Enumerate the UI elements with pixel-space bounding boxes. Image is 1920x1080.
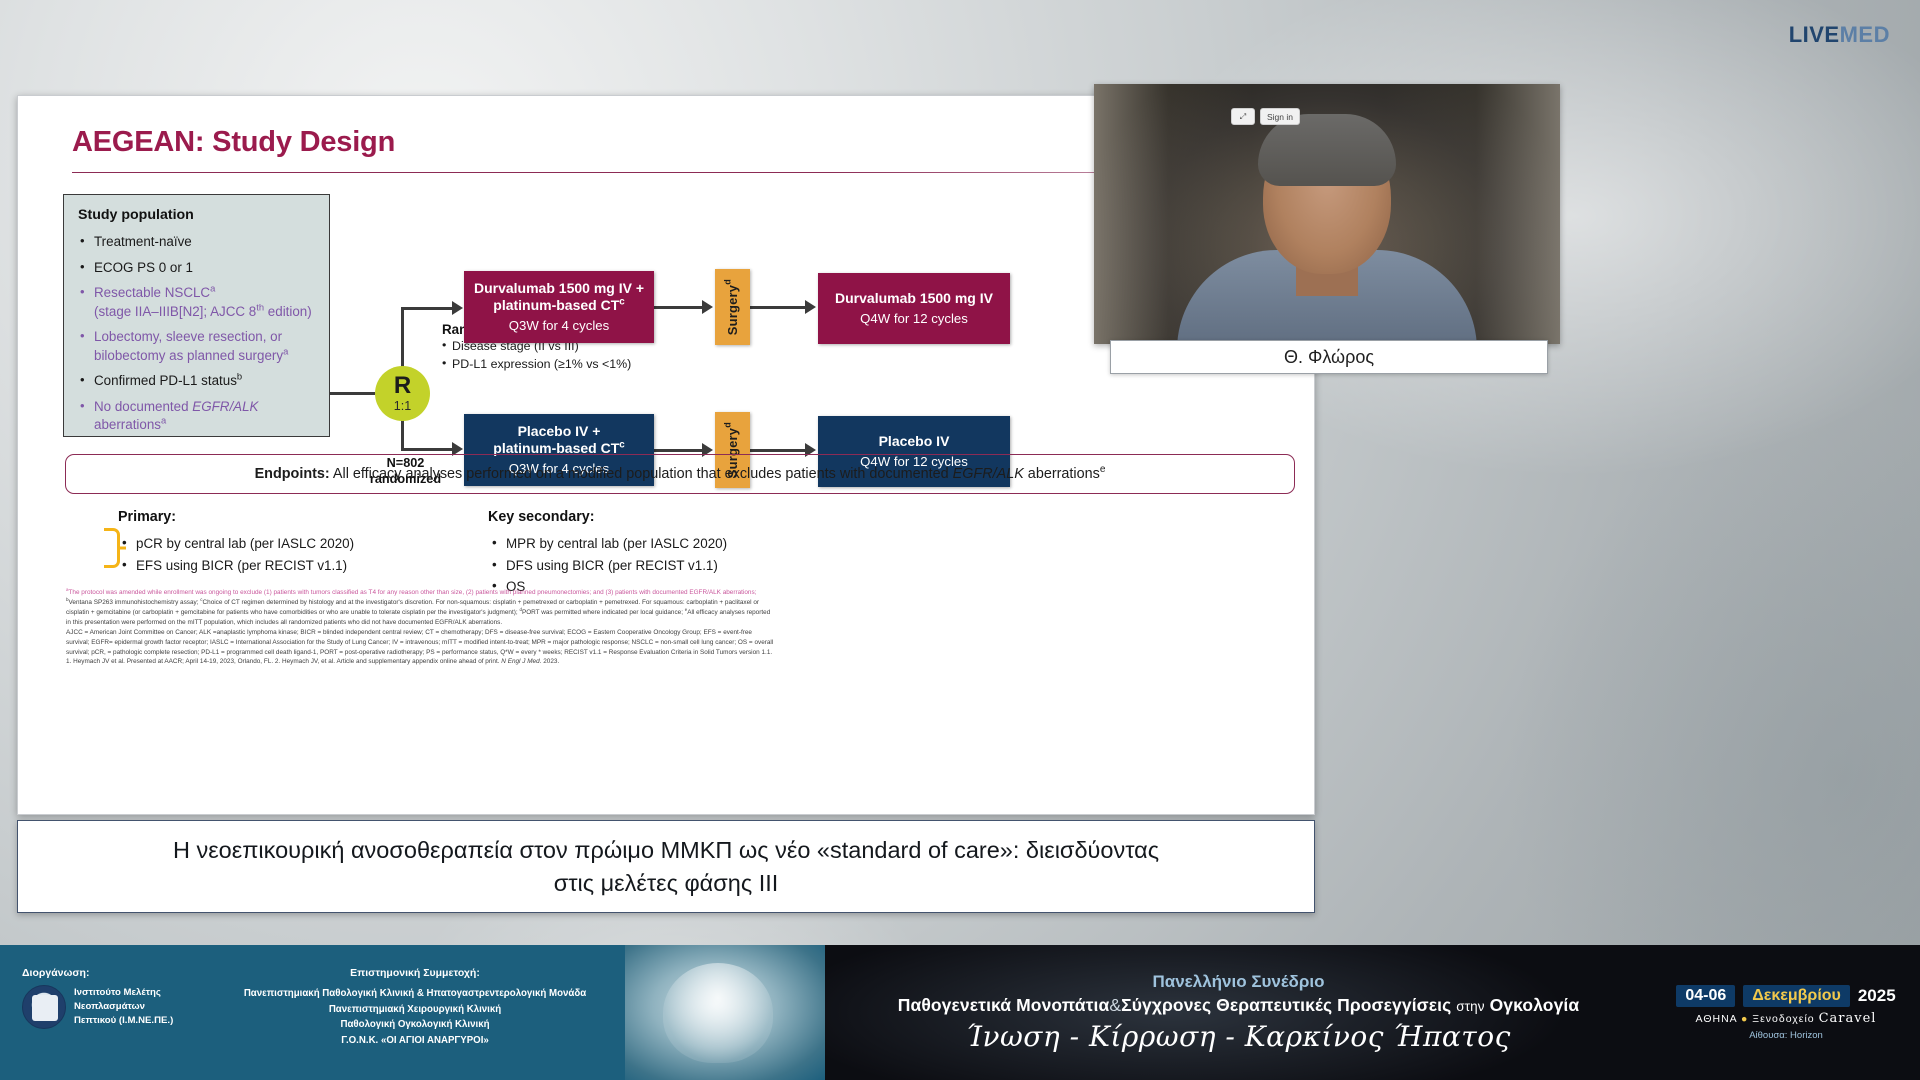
arm-title: Placebo IV (879, 433, 950, 451)
footnote-line: 1. Heymach JV et al. Presented at AACR; … (66, 657, 1256, 667)
congress-line-3: Ίνωση - Κίρρωση - Καρκίνος Ήπατος (966, 1020, 1511, 1053)
scientific-line: Πανεπιστημιακή Χειρουργική Κλινική (230, 1002, 600, 1018)
arm-title: Durvalumab 1500 mg IV +platinum-based CT… (474, 280, 644, 315)
connector-surg-to-adj-top (750, 306, 807, 309)
slide-title: AEGEAN: Study Design (72, 126, 395, 159)
congress-line-2c: Ογκολογία (1490, 995, 1580, 1015)
list-item: PD-L1 expression (≥1% vs <1%) (442, 356, 672, 374)
video-frame (1094, 84, 1560, 344)
primary-list: pCR by central lab (per IASLC 2020) EFS … (118, 533, 548, 576)
study-population-box: Study population Treatment-naïve ECOG PS… (63, 194, 330, 437)
scientific-line: Παθολογική Ογκολογική Κλινική (230, 1017, 600, 1033)
expand-icon[interactable]: ⤢ (1231, 108, 1255, 125)
list-item: Confirmed PD-L1 statusb (78, 372, 315, 391)
congress-city: ΑΘΗΝΑ (1696, 1013, 1738, 1025)
connector-pop-to-r (330, 392, 375, 395)
arm-title: Durvalumab 1500 mg IV (835, 290, 993, 308)
list-item: MPR by central lab (per IASLC 2020) (488, 533, 918, 555)
congress-line-2a: Παθογενετικά Μονοπάτια (898, 995, 1110, 1015)
endpoints-label: Endpoints: (255, 466, 330, 482)
scientific-participation-block: Επιστημονική Συμμετοχή: Πανεπιστημιακή Π… (230, 967, 600, 1048)
congress-banner: Διοργάνωση: Ινστιτούτο Μελέτης Νεοπλασμά… (0, 945, 1920, 1080)
livemed-logo-light: MED (1840, 22, 1890, 47)
list-item: DFS using BICR (per RECIST v1.1) (488, 555, 918, 577)
connector-r-up (401, 307, 404, 369)
footnote-line: bVentana SP263 immunohistochemistry assa… (66, 598, 1256, 608)
arrow-surgery-top (702, 300, 713, 314)
congress-date-block: 04-06 Δεκεμβρίου 2025 ΑΘΗΝΑ ● Ξενοδοχείο… (1652, 945, 1920, 1080)
list-item: Treatment-naïve (78, 233, 315, 252)
slide-controls: ⤢ Sign in (1231, 108, 1300, 125)
congress-line-2: Παθογενετικά Μονοπάτια&Σύγχρονες Θεραπευ… (898, 995, 1580, 1016)
livemed-logo-main: LIVE (1789, 22, 1840, 47)
caption-line-2: στις μελέτες φάσης ΙΙΙ (554, 867, 779, 899)
study-population-list: Treatment-naïve ECOG PS 0 or 1 Resectabl… (78, 233, 315, 435)
organizer-label: Διοργάνωση: (22, 967, 222, 979)
arrow-adj-top (805, 300, 816, 314)
livemed-logo: LIVEMED (1789, 22, 1890, 48)
secondary-heading: Key secondary: (488, 509, 918, 525)
connector-surg-to-adj-bot (750, 449, 807, 452)
endpoints-text: All efficacy analyses performed on a mod… (330, 466, 1106, 482)
arm-box-neoadjuvant-durvalumab: Durvalumab 1500 mg IV +platinum-based CT… (464, 271, 654, 343)
scientific-label: Επιστημονική Συμμετοχή: (230, 967, 600, 979)
list-item: Lobectomy, sleeve resection, or bilobect… (78, 328, 315, 365)
connector-neo-to-surg-top (654, 306, 704, 309)
arm-title: Placebo IV +platinum-based CTc (493, 423, 624, 458)
footnotes-block: aThe protocol was amended while enrollme… (66, 588, 1256, 667)
banner-sponsors: Διοργάνωση: Ινστιτούτο Μελέτης Νεοπλασμά… (0, 945, 625, 1080)
speaker-video[interactable] (1094, 84, 1560, 344)
organizer-block: Διοργάνωση: Ινστιτούτο Μελέτης Νεοπλασμά… (22, 967, 222, 1029)
connector-r-down (401, 418, 404, 450)
footnote-line: AJCC = American Joint Committee on Cance… (66, 628, 1256, 638)
randomization-node: R 1:1 (375, 366, 430, 421)
stratification-list: Disease stage (II vs III) PD-L1 expressi… (442, 338, 672, 373)
congress-line-1: Πανελλήνιο Συνέδριο (1153, 972, 1325, 992)
primary-endpoints-block: Primary: pCR by central lab (per IASLC 2… (118, 509, 548, 576)
list-item: EFS using BICR (per RECIST v1.1) (118, 555, 548, 577)
secondary-endpoints-block: Key secondary: MPR by central lab (per I… (488, 509, 918, 598)
randomization-ratio: 1:1 (394, 400, 411, 413)
congress-title-block: Πανελλήνιο Συνέδριο Παθογενετικά Μονοπάτ… (825, 945, 1652, 1080)
arm-box-adjuvant-durvalumab: Durvalumab 1500 mg IV Q4W for 12 cycles (818, 273, 1010, 344)
caption-line-1: Η νεοεπικουρική ανοσοθεραπεία στον πρώιμ… (173, 834, 1159, 866)
congress-line-2-small: στην (1456, 999, 1484, 1014)
congress-line-2b: Σύγχρονες Θεραπευτικές Προσεγγίσεις (1121, 995, 1451, 1015)
congress-year: 2025 (1858, 986, 1896, 1006)
surgery-label: Surgeryd (725, 279, 740, 335)
congress-month: Δεκεμβρίου (1743, 985, 1850, 1007)
presentation-title-bar: Η νεοεπικουρική ανοσοθεραπεία στον πρώιμ… (17, 820, 1315, 913)
congress-hall: Αίθουσα: Horizon (1749, 1030, 1823, 1041)
scientific-line: Γ.Ο.Ν.Κ. «ΟΙ ΑΓΙΟΙ ΑΝΑΡΓΥΡΟΙ» (230, 1033, 600, 1049)
footnote-line: survival; EGFR= epidermal growth factor … (66, 638, 1256, 648)
congress-amp: & (1109, 995, 1121, 1015)
connector-up-right (401, 307, 443, 310)
footnote-line: survival; pCR, = pathologic complete res… (66, 648, 1256, 658)
arm-schedule: Q4W for 12 cycles (860, 310, 968, 327)
scientific-line: Πανεπιστημιακή Παθολογική Κλινική & Ηπατ… (230, 986, 600, 1002)
list-item: ECOG PS 0 or 1 (78, 259, 315, 278)
venue-label: Ξενοδοχείο (1752, 1013, 1814, 1025)
footnote-line: aThe protocol was amended while enrollme… (66, 588, 1256, 598)
congress-days: 04-06 (1676, 985, 1735, 1007)
organizer-name: Ινστιτούτο Μελέτης ΝεοπλασμάτωνΠεπτικού … (74, 986, 222, 1028)
endpoints-banner: Endpoints: All efficacy analyses perform… (65, 454, 1295, 494)
connector-neo-to-surg-bot (654, 449, 704, 452)
footnote-line: in this presentation were performed on t… (66, 618, 1256, 628)
venue-name: Caravel (1819, 1011, 1877, 1026)
arrow-to-neo-durva (452, 301, 463, 315)
list-item: No documented EGFR/ALK aberrationsa (78, 398, 315, 435)
speaker-name-bar: Θ. Φλώρος (1110, 340, 1548, 374)
arm-schedule: Q3W for 4 cycles (509, 317, 609, 334)
bullet-icon: ● (1741, 1013, 1748, 1025)
sign-in-button[interactable]: Sign in (1260, 108, 1300, 125)
institute-seal-icon (22, 985, 66, 1029)
banner-artwork (625, 945, 825, 1080)
connector-down-right (401, 448, 455, 451)
list-item: Resectable NSCLCa(stage IIA–IIIB[N2]; AJ… (78, 284, 315, 321)
speaker-name: Θ. Φλώρος (1284, 347, 1374, 368)
study-population-heading: Study population (78, 207, 315, 223)
footnote-line: cisplatin + gemcitabine (or carboplatin … (66, 608, 1256, 618)
surgery-box-top: Surgeryd (715, 269, 750, 345)
list-item: pCR by central lab (per IASLC 2020) (118, 533, 548, 555)
randomization-letter: R (394, 374, 411, 398)
primary-heading: Primary: (118, 509, 548, 525)
